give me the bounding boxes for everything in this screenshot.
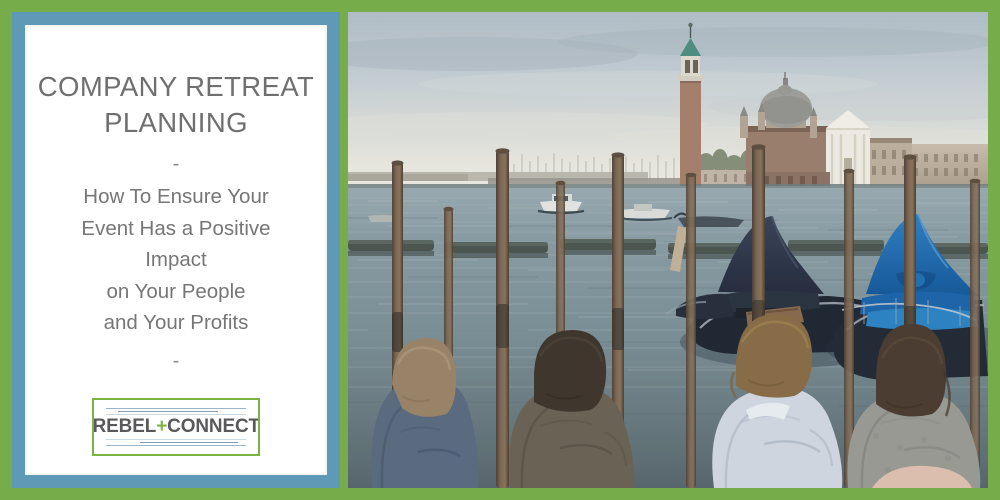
subtitle-line: on Your People: [31, 276, 321, 308]
logo-rule-icon: [140, 442, 238, 443]
logo-rule-icon: [118, 411, 218, 412]
logo-rule-icon: [106, 408, 246, 409]
venice-lagoon-photo: [348, 12, 988, 488]
subtitle-line: Impact: [31, 244, 321, 276]
poster-canvas: COMPANY RETREAT PLANNING - How To Ensure…: [0, 0, 1000, 500]
logo-word-connect: CONNECT: [167, 415, 260, 437]
subtitle-line: and Your Profits: [31, 307, 321, 339]
subtitle-line: How To Ensure Your: [31, 181, 321, 213]
subtitle: How To Ensure Your Event Has a Positive …: [31, 181, 321, 339]
logo-rule-icon: [106, 439, 246, 440]
logo-word-rebel: REBEL: [92, 415, 156, 437]
logo-wordmark: REBEL+CONNECT: [92, 415, 259, 438]
divider-dash-top: -: [173, 153, 180, 175]
subtitle-line: Event Has a Positive: [31, 213, 321, 245]
rebel-connect-logo: REBEL+CONNECT: [92, 398, 260, 456]
text-card: COMPANY RETREAT PLANNING - How To Ensure…: [27, 27, 325, 473]
logo-rule-icon: [106, 445, 246, 446]
photo-artwork: [348, 12, 988, 488]
divider-dash-bottom: -: [173, 350, 180, 372]
text-card-frame: COMPANY RETREAT PLANNING - How To Ensure…: [12, 12, 340, 488]
logo-plus-icon: +: [156, 415, 167, 437]
page-title: COMPANY RETREAT PLANNING: [31, 69, 321, 141]
